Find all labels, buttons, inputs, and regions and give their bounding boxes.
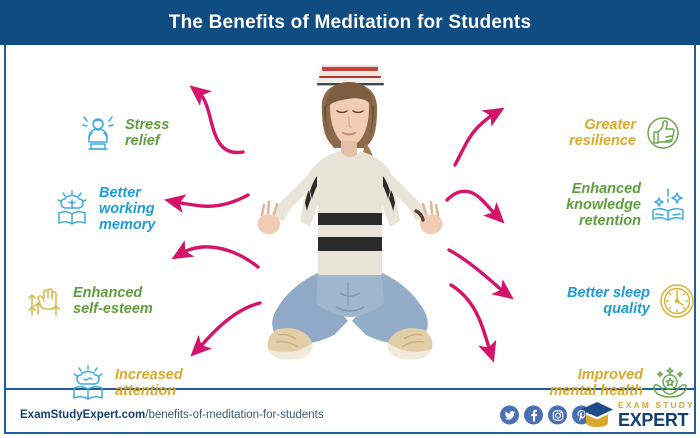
raised-fist-arrows-icon (26, 281, 66, 321)
benefit-enhanced-knowledge-retention[interactable]: Enhanced knowledge retention (498, 181, 688, 230)
header-bar: The Benefits of Meditation for Students (0, 0, 700, 45)
benefit-enhanced-self-esteem[interactable]: Enhanced self-esteem (26, 281, 221, 321)
logo-text-top: EXAM STUDY (618, 401, 695, 410)
thumbs-up-bandage-icon (643, 113, 683, 153)
benefit-better-working-memory[interactable]: Better working memory (52, 185, 232, 234)
brand-logo[interactable]: EXAM STUDY EXPERT (580, 400, 695, 430)
benefit-better-sleep-quality[interactable]: Better sleep quality (527, 281, 697, 321)
footer-url[interactable]: ExamStudyExpert.com/benefits-of-meditati… (20, 409, 324, 421)
benefit-stress-relief[interactable]: Stress relief (78, 113, 248, 153)
page-title: The Benefits of Meditation for Students (169, 12, 531, 34)
logo-wordmark: EXAM STUDY EXPERT (618, 401, 695, 429)
twitter-icon[interactable] (500, 406, 519, 425)
footer-url-path: /benefits-of-meditation-for-students (145, 409, 323, 421)
benefit-label: Enhanced knowledge retention (498, 181, 641, 230)
benefit-label: Stress relief (125, 117, 169, 149)
infographic-poster: The Benefits of Meditation for Students (0, 0, 700, 438)
social-links (500, 406, 591, 425)
clock-icon (657, 281, 697, 321)
benefit-label: Better working memory (99, 185, 155, 234)
benefit-label: Better sleep quality (527, 285, 650, 317)
benefit-label: Enhanced self-esteem (73, 285, 153, 317)
instagram-icon[interactable] (548, 406, 567, 425)
brain-book-icon (52, 189, 92, 229)
stressed-person-laptop-icon (78, 113, 118, 153)
sparkling-book-icon (648, 185, 688, 225)
benefit-greater-resilience[interactable]: Greater resilience (498, 113, 683, 153)
graduation-cap-icon (580, 400, 614, 430)
logo-text-bottom: EXPERT (618, 411, 695, 429)
footer-bar: ExamStudyExpert.com/benefits-of-meditati… (0, 392, 700, 438)
footer-url-domain: ExamStudyExpert.com (20, 409, 145, 421)
benefit-label: Greater resilience (498, 117, 636, 149)
facebook-icon[interactable] (524, 406, 543, 425)
benefits-stage: Stress relief Better working memory En (0, 45, 700, 390)
